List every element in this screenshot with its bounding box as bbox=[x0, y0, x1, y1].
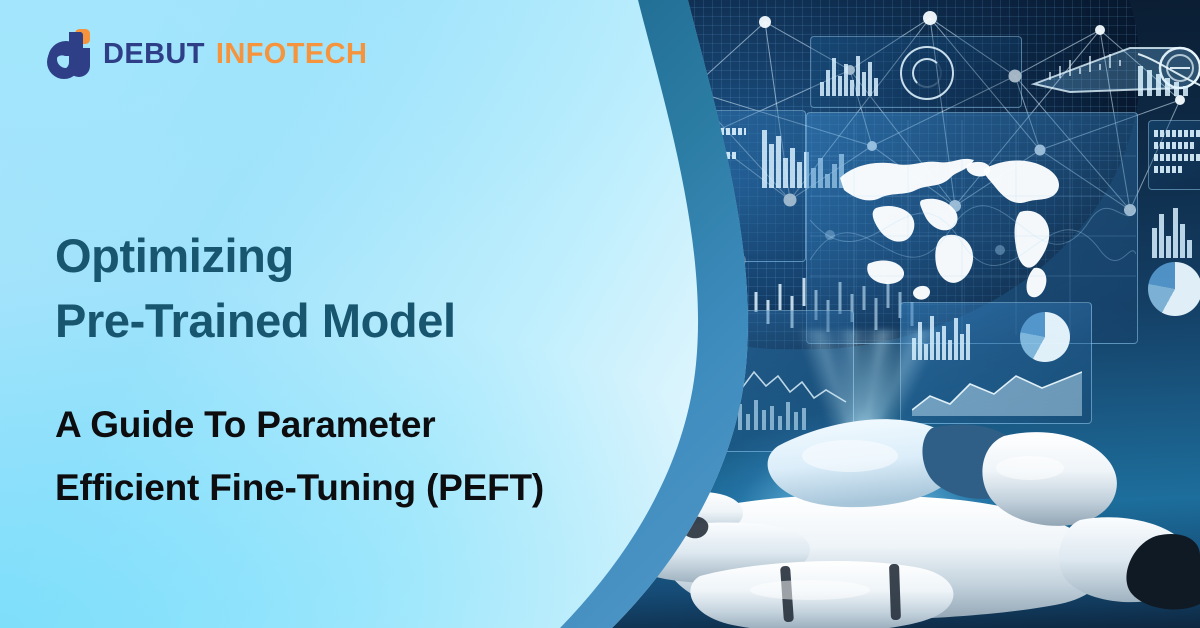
status-dot-icon-3 bbox=[686, 206, 716, 236]
page-subtitle: A Guide To Parameter Efficient Fine-Tuni… bbox=[55, 393, 655, 520]
right-bar-chart bbox=[1152, 208, 1192, 258]
lower-donut-icon bbox=[676, 326, 722, 372]
brand-logo[interactable]: DEBUT INFOTECH bbox=[47, 26, 367, 82]
subhead-line-2: Efficient Fine-Tuning (PEFT) bbox=[55, 456, 655, 520]
brand-name-primary: DEBUT bbox=[103, 38, 205, 71]
circular-gauge-icon bbox=[536, 128, 604, 196]
page-title: Optimizing Pre-Trained Model bbox=[55, 224, 615, 354]
mini-pie-3 bbox=[686, 380, 712, 406]
right-metrics-rows bbox=[1154, 130, 1200, 173]
lower-hud-bars bbox=[618, 326, 666, 368]
mini-pie-6 bbox=[686, 412, 712, 438]
status-dot-icon-2 bbox=[652, 206, 682, 236]
mini-pie-2 bbox=[652, 380, 678, 406]
brand-wordmark: DEBUT INFOTECH bbox=[103, 38, 367, 71]
circular-gauge-inner-icon bbox=[548, 140, 592, 184]
brand-name-secondary: INFOTECH bbox=[216, 38, 367, 71]
mini-pie-5 bbox=[652, 412, 678, 438]
subhead-line-1: A Guide To Parameter bbox=[55, 393, 655, 457]
right-decline-chart bbox=[1134, 44, 1200, 104]
robot-hand-icon bbox=[560, 390, 1200, 628]
hud-topbar-bars bbox=[820, 52, 878, 96]
headline-line-2: Pre-Trained Model bbox=[55, 289, 615, 354]
hud-topbar-gauge-inner-icon bbox=[912, 58, 942, 88]
right-lower-pie bbox=[1020, 312, 1070, 362]
right-lower-bars bbox=[912, 314, 970, 360]
status-dot-icon-1 bbox=[618, 206, 648, 236]
pie-chart-panel bbox=[1148, 262, 1200, 316]
debut-d-monogram-icon bbox=[47, 28, 93, 80]
hud-data-rows bbox=[618, 128, 748, 171]
marketing-banner: DEBUT INFOTECH Optimizing Pre-Trained Mo… bbox=[0, 0, 1200, 628]
headline-line-1: Optimizing bbox=[55, 224, 615, 289]
